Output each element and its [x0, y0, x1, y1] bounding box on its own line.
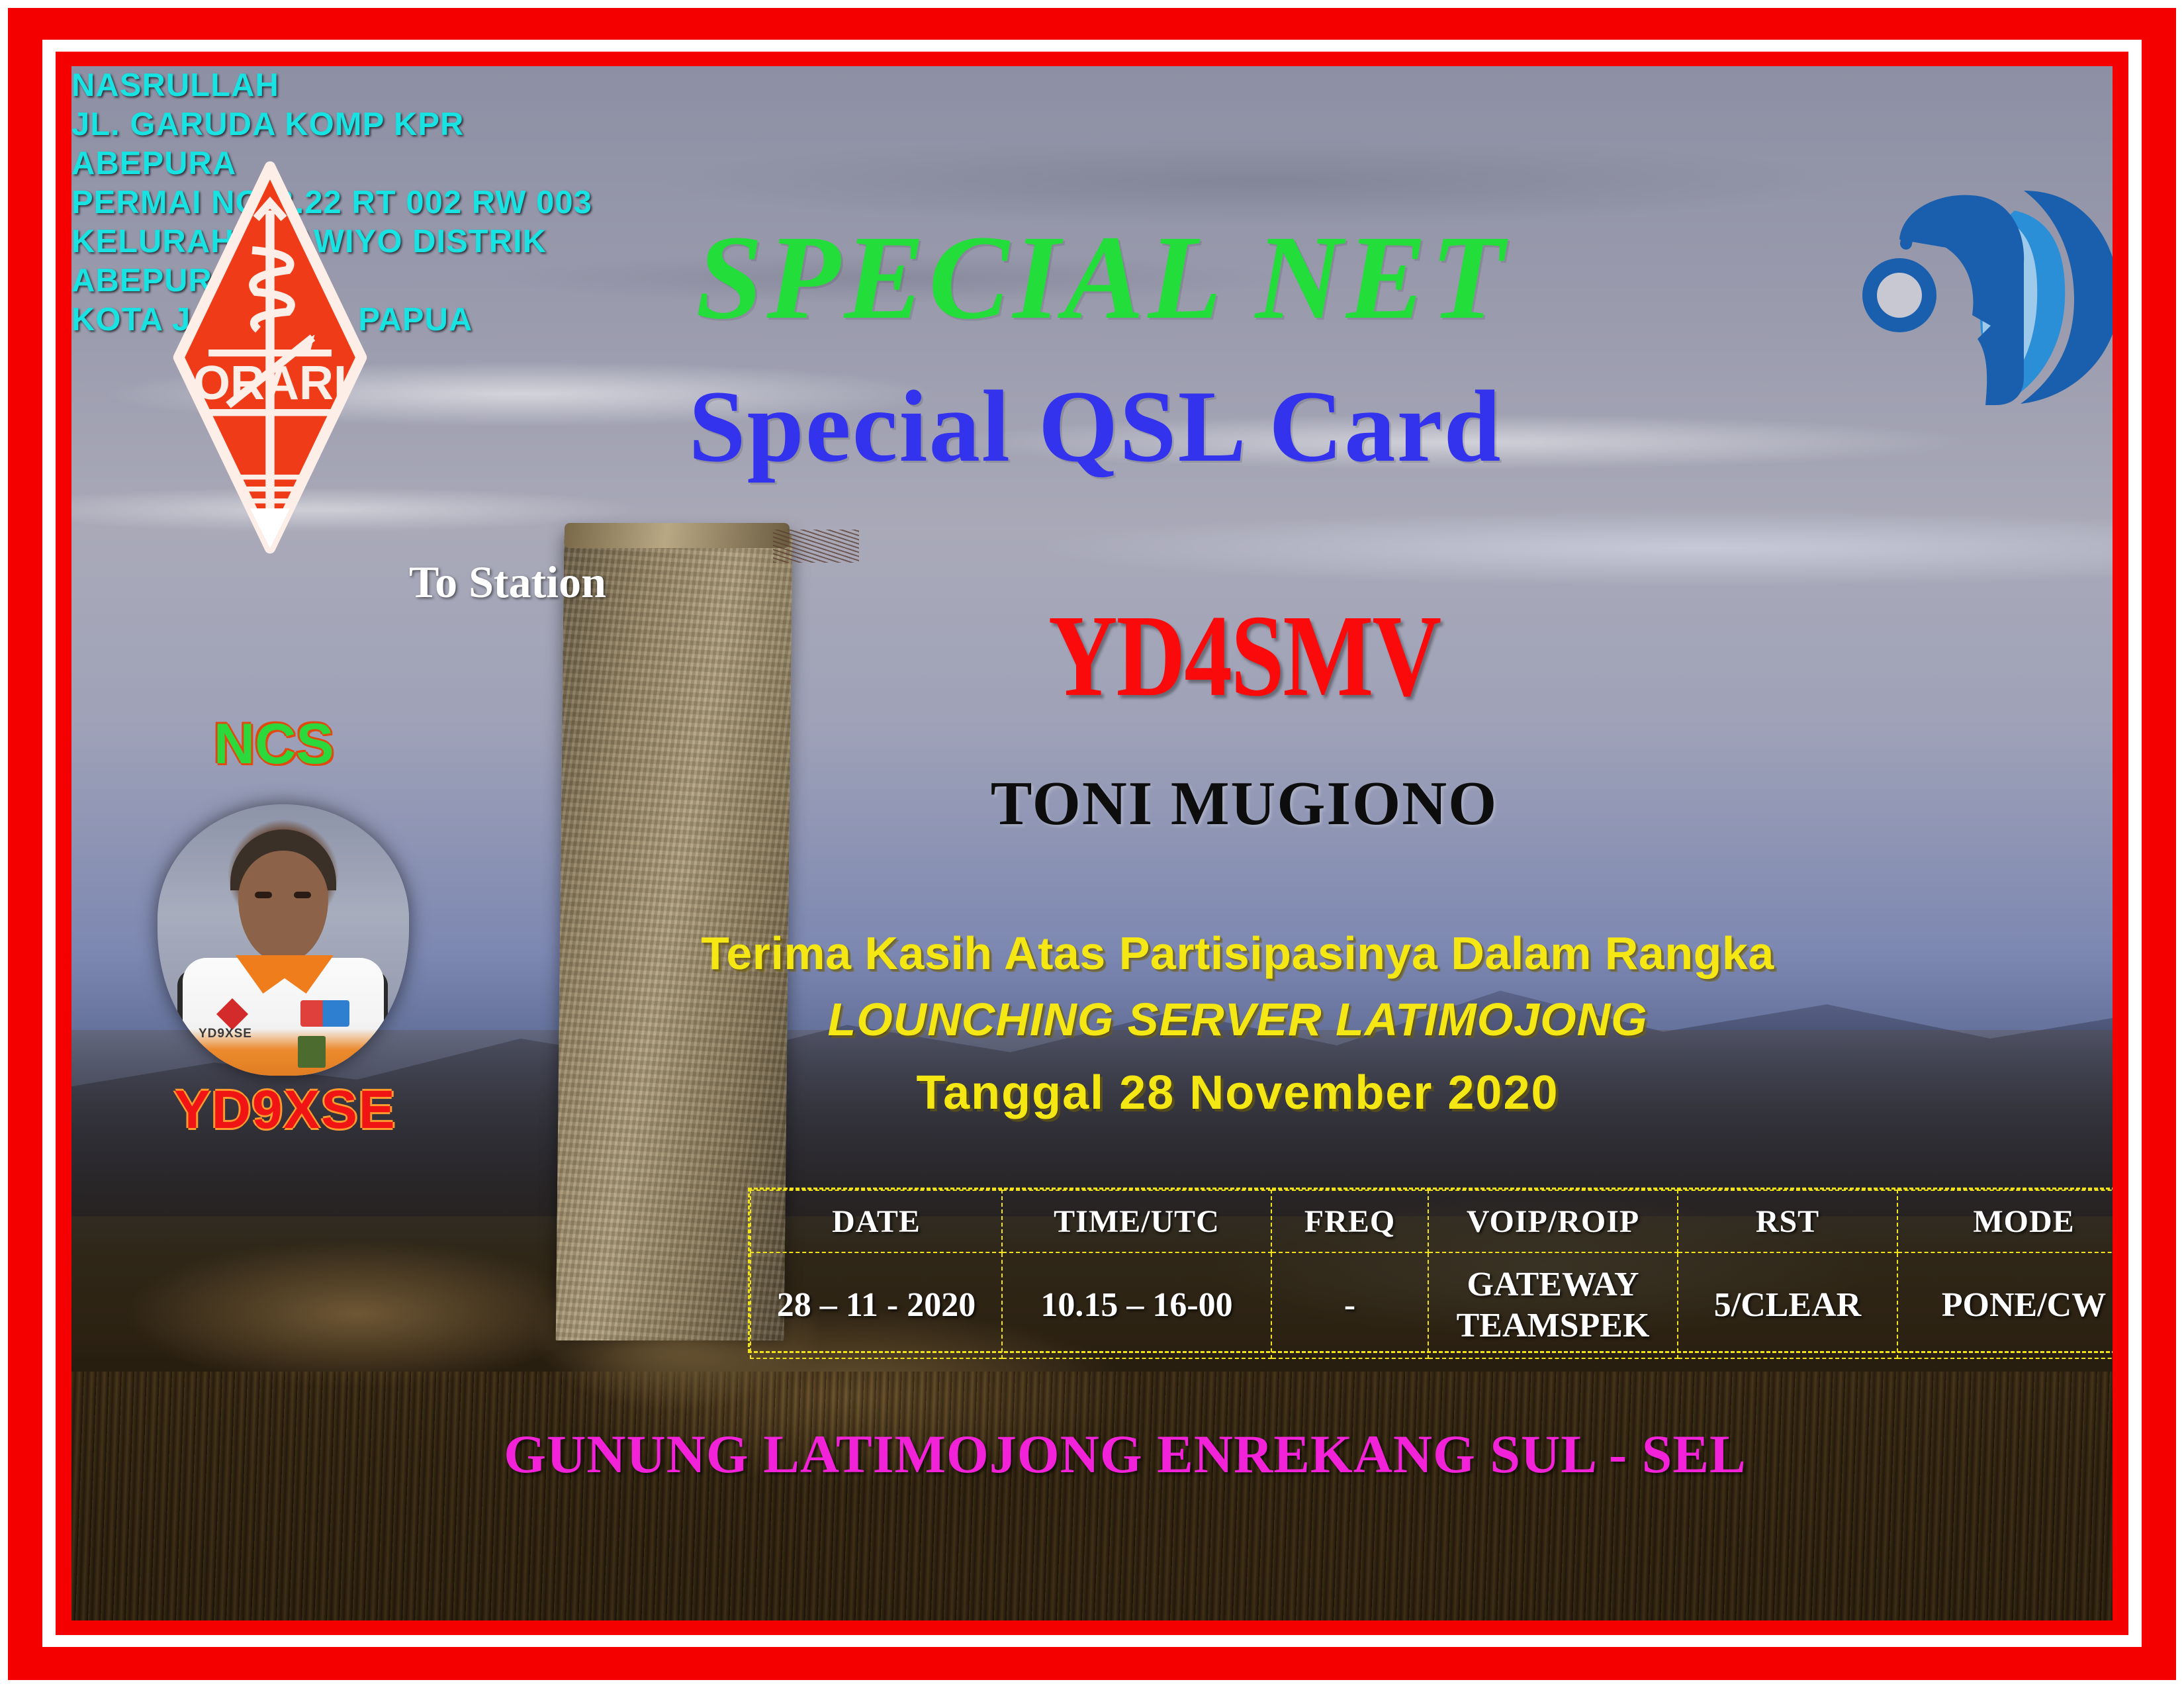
td-voip-roip: GATEWAY TEAMSPEK: [1428, 1252, 1678, 1358]
grass-layer: [71, 1372, 2113, 1620]
td-date: 28 – 11 - 2020: [751, 1252, 1002, 1358]
table-row: 28 – 11 - 2020 10.15 – 16-00 - GATEWAY T…: [751, 1252, 2113, 1358]
thanks-line: Terima Kasih Atas Partisipasinya Dalam R…: [71, 927, 2113, 980]
white-frame-gap: ORARI SPECIAL NET Special QSL Card To St…: [42, 40, 2142, 1647]
background-photo: ORARI SPECIAL NET Special QSL Card To St…: [71, 66, 2113, 1620]
td-mode: PONE/CW: [1897, 1252, 2113, 1358]
td-time-utc: 10.15 – 16-00: [1002, 1252, 1271, 1358]
td-rst: 5/CLEAR: [1678, 1252, 1897, 1358]
inner-red-frame: ORARI SPECIAL NET Special QSL Card To St…: [56, 52, 2128, 1635]
station-callsign: YD4SMV: [71, 589, 2113, 724]
outer-red-frame: ORARI SPECIAL NET Special QSL Card To St…: [8, 8, 2176, 1680]
location-line: GUNUNG LATIMOJONG ENREKANG SUL - SEL: [71, 1423, 2113, 1485]
qsl-card: ORARI SPECIAL NET Special QSL Card To St…: [0, 0, 2184, 1688]
title-special-net: SPECIAL NET: [71, 209, 2113, 347]
monument-cap: [565, 523, 790, 548]
th-rst: RST: [1678, 1190, 1897, 1252]
photo-eye-left: [255, 892, 272, 898]
td-freq: -: [1271, 1252, 1428, 1358]
operator-name: TONI MUGIONO: [71, 768, 2113, 839]
table-header-row: DATE TIME/UTC FREQ VOIP/ROIP RST MODE: [751, 1190, 2113, 1252]
th-time-utc: TIME/UTC: [1002, 1190, 1271, 1252]
event-date-line: Tanggal 28 November 2020: [71, 1066, 2113, 1120]
th-mode: MODE: [1897, 1190, 2113, 1252]
qso-table: DATE TIME/UTC FREQ VOIP/ROIP RST MODE 28…: [748, 1188, 2113, 1353]
event-line: LOUNCHING SERVER LATIMOJONG: [71, 993, 2113, 1046]
monument-wisp: [773, 530, 859, 563]
th-date: DATE: [751, 1190, 1002, 1252]
th-voip-roip: VOIP/ROIP: [1428, 1190, 1678, 1252]
th-freq: FREQ: [1271, 1190, 1428, 1252]
photo-eye-right: [294, 892, 311, 898]
title-special-qsl-card: Special QSL Card: [71, 367, 2113, 486]
